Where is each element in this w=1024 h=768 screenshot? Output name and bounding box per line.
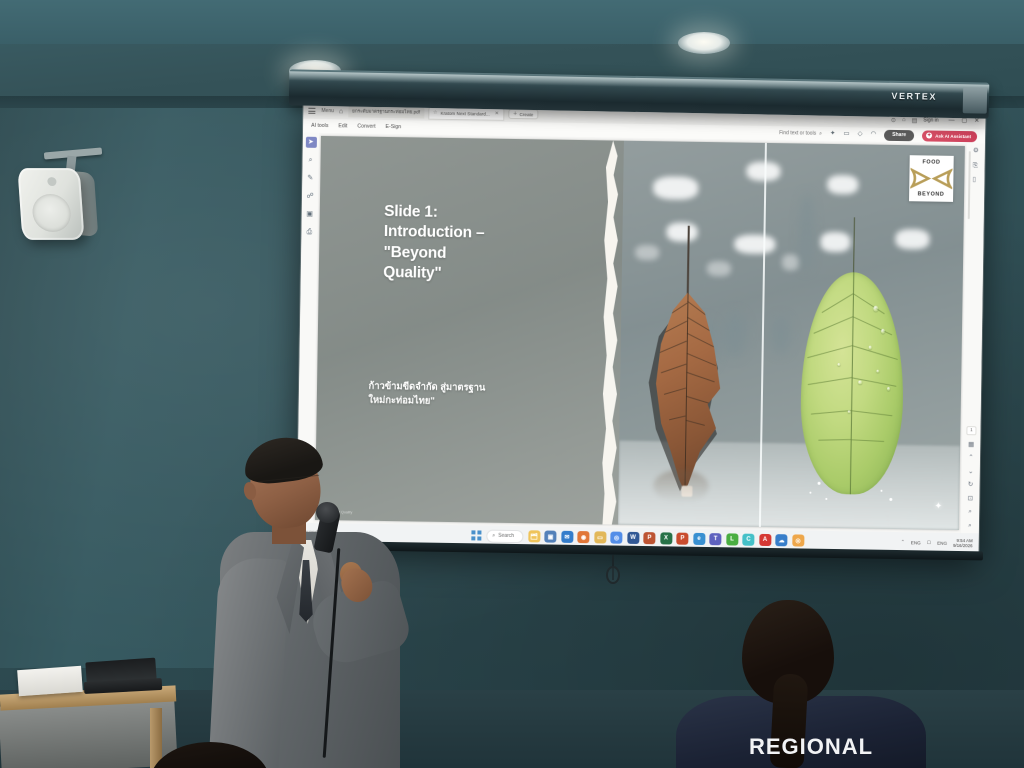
slide-subtitle: ก้าวข้ามขีดจำกัด สู่มาตรฐาน ใหม่กะท่อมไท…	[368, 379, 613, 410]
plus-icon: ＋	[513, 111, 518, 117]
sparkle-icon: ✦	[935, 501, 943, 510]
sign-in-button[interactable]: Sign in	[923, 117, 938, 123]
taskbar-app-word[interactable]: W	[627, 532, 639, 544]
ai-assistant-icon[interactable]: ✦	[830, 131, 836, 138]
window-controls: — ▢ ✕	[949, 118, 980, 124]
upgrade-icon[interactable]: ▤	[912, 117, 918, 124]
address-text: ยกระดับมาตรฐานกระท่อมไทย.pdf	[352, 108, 420, 116]
side-table	[0, 668, 176, 768]
taskbar-app-folder[interactable]: ▭	[594, 531, 606, 543]
right-toolbar-top: ⚙ ⎘ ▯	[972, 143, 978, 184]
fresh-leaf-image	[799, 216, 906, 509]
taskbar-app-powerpoint[interactable]: P	[643, 532, 655, 544]
speaker-woofer	[31, 194, 72, 232]
housing-endcap	[963, 87, 987, 113]
fit-page-icon[interactable]: ⊡	[968, 496, 974, 503]
textbox-icon[interactable]: ▣	[304, 209, 315, 220]
find-placeholder: Find text or tools	[779, 130, 816, 137]
taskbar-app-store[interactable]: ▣	[544, 531, 556, 543]
taskbar-app-excel[interactable]: X	[660, 532, 672, 544]
home-icon[interactable]: ⌂	[339, 108, 343, 115]
chevron-up-icon[interactable]: ⌃	[901, 539, 905, 545]
new-tab-label: Create	[519, 112, 533, 117]
slide-title: Slide 1: Introduction – "Beyond Quality"	[383, 202, 603, 286]
chevron-down-icon[interactable]: ⌄	[968, 469, 974, 476]
taskbar-app-chrome-2[interactable]: ◎	[792, 534, 804, 546]
comment-icon[interactable]: ▭	[843, 131, 849, 138]
comment-icon[interactable]: ☍	[304, 191, 315, 202]
ceiling-downlight	[678, 32, 730, 54]
search-icon: ⌕	[492, 533, 495, 539]
menubar-right-cluster: Find text or tools ⌕ ✦ ▭ ◇ ◠ Share ✦ Ask…	[779, 128, 977, 142]
help-icon[interactable]: ⊙	[891, 116, 896, 123]
search-placeholder: Search	[498, 533, 514, 539]
slide-title-line: Quality"	[383, 263, 602, 287]
taskbar-app-file-explorer[interactable]: 🗂	[528, 530, 540, 542]
taskbar-app-onedrive[interactable]: ☁	[775, 534, 787, 546]
speaker-tweeter	[47, 177, 57, 186]
clock[interactable]: 9:54 AM 9/16/2026	[953, 537, 973, 548]
notification-icon[interactable]: ▢	[927, 540, 931, 546]
star-icon[interactable]: ☆	[433, 110, 438, 116]
food-beyond-logo: FOOD BEYOND	[909, 155, 954, 202]
logo-top-word: FOOD	[909, 159, 953, 166]
ceiling-band	[0, 0, 1024, 44]
dried-leaf-image	[645, 226, 728, 504]
taskbar-app-teams[interactable]: T	[709, 533, 721, 545]
menu-item-ai-tools[interactable]: AI tools	[311, 123, 328, 129]
chevron-up-icon[interactable]: ⌃	[968, 455, 974, 462]
taskbar-app-powerpoint-2[interactable]: P	[676, 533, 688, 545]
screen-pull-ring[interactable]	[606, 566, 620, 584]
projector-brand-label: VERTEX	[891, 91, 937, 102]
menu-item-edit[interactable]: Edit	[338, 123, 347, 129]
stamp-icon[interactable]: ⎙	[304, 227, 315, 238]
scrollbar[interactable]	[968, 151, 971, 219]
copy-page-icon[interactable]: ⎘	[973, 163, 979, 170]
zoom-in-icon[interactable]: ⌕	[968, 509, 972, 516]
thumbnail-icon[interactable]: ▦	[968, 442, 974, 449]
zoom-icon[interactable]: ⌕	[305, 155, 316, 166]
slide-title-line: Introduction –	[384, 222, 603, 246]
taskbar-app-edge[interactable]: e	[693, 533, 705, 545]
input-mode-indicator[interactable]: ENG	[937, 540, 947, 545]
taskbar-app-acrobat[interactable]: A	[759, 534, 771, 546]
share-button[interactable]: Share	[884, 129, 914, 140]
select-cursor-icon[interactable]: ➤	[305, 137, 316, 148]
new-tab-button[interactable]: ＋ Create	[508, 109, 539, 119]
paper-stack	[17, 666, 83, 696]
language-indicator[interactable]: ENG	[911, 540, 921, 545]
page-icon[interactable]: ▯	[972, 177, 978, 184]
system-tray: ⌃ ENG ▢ ENG 9:54 AM 9/16/2026	[901, 537, 975, 549]
bell-icon[interactable]: ⌂	[902, 117, 906, 123]
search-icon[interactable]: ⌕	[819, 131, 822, 137]
document-tab-title: Kratom Next Standard...	[440, 110, 489, 116]
ask-ai-label: Ask AI Assistant	[935, 133, 971, 139]
audience-member: REGIONAL	[676, 600, 926, 768]
right-toolbar-bottom: 1 ▦ ⌃ ⌄ ↻ ⊡ ⌕ ⌕	[961, 426, 981, 529]
bowtie-icon	[910, 167, 952, 190]
taskbar-app-firefox[interactable]: ◉	[577, 531, 589, 543]
draw-icon[interactable]: ◠	[871, 131, 877, 138]
highlight-icon[interactable]: ◇	[858, 131, 863, 138]
find-input[interactable]: Find text or tools ⌕	[779, 130, 822, 137]
search-input[interactable]: ⌕ Search	[486, 529, 523, 543]
menu-item-esign[interactable]: E-Sign	[386, 124, 402, 130]
menu-item-convert[interactable]: Convert	[357, 124, 375, 130]
slide-photo: ✦ FOOD BEYOND	[618, 141, 965, 530]
page-number-input[interactable]: 1	[966, 426, 977, 435]
taskbar-app-line[interactable]: L	[726, 533, 738, 545]
conference-room: VERTEX Menu ⌂ ยกระดับมาตรฐานกระท่อมไทย.p…	[0, 0, 1024, 768]
taskbar-app-mail[interactable]: ✉	[561, 531, 573, 543]
menu-label[interactable]: Menu	[321, 108, 334, 114]
sign-icon[interactable]: ✎	[305, 173, 316, 184]
settings-icon[interactable]: ⚙	[973, 148, 979, 155]
taskbar-app-canva[interactable]: C	[742, 534, 754, 546]
taskbar-app-chrome[interactable]: ◎	[610, 532, 622, 544]
rotate-icon[interactable]: ↻	[968, 482, 974, 489]
sparkle-icon: ✦	[926, 132, 932, 138]
start-button[interactable]	[471, 530, 481, 540]
uniform-text: REGIONAL	[726, 734, 896, 760]
presenter-speaker	[214, 432, 414, 768]
minimize-button[interactable]: —	[949, 118, 955, 124]
ask-ai-assistant-button[interactable]: ✦ Ask AI Assistant	[922, 130, 977, 142]
close-window-button[interactable]: ✕	[974, 118, 979, 124]
clock-date: 9/16/2026	[953, 543, 973, 549]
wall-speaker	[17, 168, 84, 240]
logo-bottom-word: BEYOND	[909, 191, 953, 198]
zoom-out-icon[interactable]: ⌕	[968, 523, 972, 530]
presenter-left-shoulder	[209, 556, 290, 768]
close-icon[interactable]: ✕	[495, 111, 499, 117]
maximize-button[interactable]: ▢	[962, 118, 968, 124]
menu-icon[interactable]	[307, 107, 316, 115]
